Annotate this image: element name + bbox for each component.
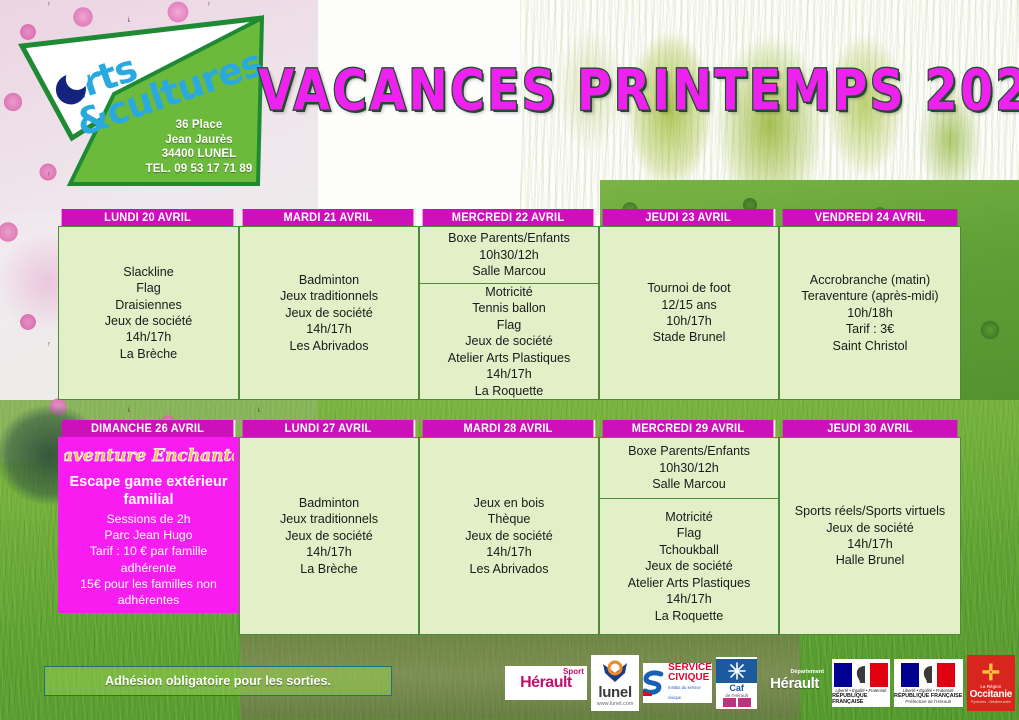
day-header: VENDREDI 24 AVRIL <box>783 209 958 226</box>
marianne-flag-icon <box>901 663 955 687</box>
escape-game-cell: L'aventure EnchantéeEscape game extérieu… <box>58 437 239 613</box>
activity-cell: BadmintonJeux traditionnelsJeux de socié… <box>239 437 419 635</box>
arts-et-cultures-logo: arts &cultures 36 Place Jean Jaurès 3440… <box>10 6 272 196</box>
activity-line: La Roquette <box>655 608 724 624</box>
activity-line: Tarif : 3€ <box>846 321 894 337</box>
service-civique-text: SERVICE CIVIQUE Institut du service civi… <box>668 663 712 703</box>
address-line: TEL. 09 53 17 71 89 <box>134 162 264 177</box>
activity-line: Motricité <box>485 284 533 300</box>
marianne-flag-icon <box>834 663 888 687</box>
partner-logo-caf: Caf de l'Hérault <box>716 657 757 709</box>
day-column: MERCREDI 29 AVRILBoxe Parents/Enfants10h… <box>599 420 779 635</box>
address-line: 36 Place <box>134 118 264 133</box>
occitanie-lab3: Pyrénées - Méditerranée <box>971 700 1011 704</box>
partner-logo-strip: Sport Hérault lunel www.lunel.com SERVIC… <box>505 652 1015 714</box>
activity-line: Jeux de société <box>465 528 553 544</box>
page-title: VACANCES PRINTEMPS 2026 <box>258 57 1013 123</box>
caf-name: Caf <box>729 683 744 693</box>
departement-herault-name: Hérault <box>770 675 819 692</box>
activity-line: Saint Christol <box>833 338 908 354</box>
day-header: LUNDI 20 AVRIL <box>62 209 236 226</box>
day-header: MERCREDI 29 AVRIL <box>603 420 776 437</box>
service-civique-sub: Institut du service civique <box>668 683 712 703</box>
activity-cell: Boxe Parents/Enfants10h30/12hSalle Marco… <box>419 226 599 284</box>
activity-line: Jeux de société <box>105 313 193 329</box>
activity-line: Atelier Arts Plastiques <box>448 350 571 366</box>
escape-headline: Escape game extérieur familial <box>63 473 234 509</box>
activity-line: La Brèche <box>300 561 357 577</box>
activity-line: Tennis ballon <box>472 300 546 316</box>
activity-line: Tarif : 10 € par famille adhérente <box>63 543 234 575</box>
activity-line: Stade Brunel <box>653 329 726 345</box>
day-column: JEUDI 23 AVRILTournoi de foot12/15 ans10… <box>599 209 779 400</box>
snowflake-icon <box>727 661 747 681</box>
flag-white-marianne <box>852 663 870 687</box>
activity-line: 14h/17h <box>126 329 172 345</box>
activity-line: Slackline <box>123 264 173 280</box>
activity-cell: Tournoi de foot12/15 ans10h/17hStade Bru… <box>599 226 779 400</box>
activity-line: Jeux de société <box>645 558 733 574</box>
caf-chip <box>738 698 751 707</box>
address-line: 34400 LUNEL <box>134 147 264 162</box>
membership-notice-text: Adhésion obligatoire pour les sorties. <box>105 674 331 688</box>
activity-line: La Brèche <box>120 346 177 362</box>
flag-blue <box>834 663 852 687</box>
activity-line: Salle Marcou <box>472 263 546 279</box>
activity-line: La Roquette <box>475 383 544 399</box>
activity-line: Jeux de société <box>285 528 373 544</box>
activity-line: Flag <box>497 317 522 333</box>
lunel-name: lunel <box>598 684 632 701</box>
activity-cell: MotricitéFlagTchoukballJeux de sociétéAt… <box>599 499 779 635</box>
activity-line: 10h30/12h <box>479 247 539 263</box>
schedule-week-1: LUNDI 20 AVRILSlacklineFlagDraisiennesJe… <box>58 209 961 400</box>
activity-line: 14h/17h <box>306 321 352 337</box>
partner-logo-departement-herault: Département Hérault <box>761 666 828 700</box>
activity-line: 10h/18h <box>847 305 893 321</box>
partner-logo-lunel: lunel www.lunel.com <box>591 655 639 711</box>
activity-cell: Jeux en boisThèqueJeux de société14h/17h… <box>419 437 599 635</box>
day-header: MARDI 28 AVRIL <box>423 420 596 437</box>
flag-white-marianne <box>919 663 937 687</box>
day-header: MERCREDI 22 AVRIL <box>423 209 596 226</box>
activity-line: 15€ pour les familles non adhérentes <box>63 576 234 608</box>
activity-line: 14h/17h <box>486 366 532 382</box>
activity-line: Sessions de 2h <box>106 511 190 527</box>
day-column: MARDI 28 AVRILJeux en boisThèqueJeux de … <box>419 420 599 635</box>
day-column: DIMANCHE 26 AVRILL'aventure EnchantéeEsc… <box>58 420 239 635</box>
day-column: JEUDI 30 AVRILSports réels/Sports virtue… <box>779 420 961 635</box>
day-header: DIMANCHE 26 AVRIL <box>62 420 236 437</box>
marianne-profile-icon <box>919 663 937 687</box>
activity-line: Thèque <box>488 511 531 527</box>
address-line: Jean Jaurès <box>134 133 264 148</box>
day-column: VENDREDI 24 AVRILAccrobranche (matin)Ter… <box>779 209 961 400</box>
activity-line: Tournoi de foot <box>647 280 730 296</box>
activity-line: Jeux en bois <box>474 495 545 511</box>
partner-logo-republique-francaise: Liberté • Égalité • Fraternité RÉPUBLIQU… <box>832 659 890 707</box>
day-column: MERCREDI 22 AVRILBoxe Parents/Enfants10h… <box>419 209 599 400</box>
activity-line: Sports réels/Sports virtuels <box>795 503 945 519</box>
activity-line: Badminton <box>299 272 359 288</box>
service-civique-icon <box>643 670 665 696</box>
caf-snowflake-icon <box>716 659 757 683</box>
activity-cell: Accrobranche (matin)Teraventure (après-m… <box>779 226 961 400</box>
membership-notice-banner: Adhésion obligatoire pour les sorties. <box>44 666 392 696</box>
activity-line: Teraventure (après-midi) <box>801 288 938 304</box>
day-column: MARDI 21 AVRILBadmintonJeux traditionnel… <box>239 209 419 400</box>
marianne-profile-icon <box>852 663 870 687</box>
day-column: LUNDI 27 AVRILBadmintonJeux traditionnel… <box>239 420 419 635</box>
activity-cell: Sports réels/Sports virtuelsJeux de soci… <box>779 437 961 635</box>
activity-line: Boxe Parents/Enfants <box>628 443 750 459</box>
activity-line: Flag <box>136 280 161 296</box>
partner-logo-occitanie: ✛ La Région Occitanie Pyrénées - Méditer… <box>967 655 1015 711</box>
activity-line: Jeux de société <box>285 305 373 321</box>
activity-line: Flag <box>677 525 702 541</box>
prefecture-sub: Préfecture de l'Hérault <box>905 699 951 704</box>
departement-herault-sup: Département <box>790 669 824 675</box>
activity-line: 14h/17h <box>486 544 532 560</box>
activity-line: Les Abrivados <box>469 561 548 577</box>
activity-cell: SlacklineFlagDraisiennesJeux de société1… <box>58 226 239 400</box>
caf-chips <box>723 698 751 707</box>
day-header: JEUDI 30 AVRIL <box>783 420 958 437</box>
activity-line: Boxe Parents/Enfants <box>448 230 570 246</box>
activity-line: 10h/17h <box>666 313 712 329</box>
activity-line: Parc Jean Hugo <box>104 527 192 543</box>
activity-line: Salle Marcou <box>652 476 726 492</box>
day-header: MARDI 21 AVRIL <box>243 209 416 226</box>
activity-line: Tchoukball <box>659 542 719 558</box>
sport-herault-sup: Sport <box>563 667 584 676</box>
day-header: LUNDI 27 AVRIL <box>243 420 416 437</box>
activity-line: Accrobranche (matin) <box>810 272 930 288</box>
logo-address: 36 Place Jean Jaurès 34400 LUNEL TEL. 09… <box>134 118 264 176</box>
lunel-url: www.lunel.com <box>597 701 634 707</box>
caf-chip <box>723 698 736 707</box>
activity-line: Draisiennes <box>115 297 182 313</box>
partner-logo-service-civique: SERVICE CIVIQUE Institut du service civi… <box>643 663 712 703</box>
activity-cell: Boxe Parents/Enfants10h30/12hSalle Marco… <box>599 437 779 499</box>
flag-red <box>937 663 955 687</box>
activity-cell: BadmintonJeux traditionnelsJeux de socié… <box>239 226 419 400</box>
rf-name: RÉPUBLIQUE FRANÇAISE <box>832 693 890 705</box>
activity-line: Jeux traditionnels <box>280 511 378 527</box>
activity-line: Badminton <box>299 495 359 511</box>
activity-line: 14h/17h <box>306 544 352 560</box>
schedule-week-2: DIMANCHE 26 AVRILL'aventure EnchantéeEsc… <box>58 420 961 635</box>
activity-line: 10h30/12h <box>659 460 719 476</box>
partner-logo-sport-herault: Sport Hérault <box>505 666 587 700</box>
service-civique-line2: CIVIQUE <box>668 673 712 683</box>
day-column: LUNDI 20 AVRILSlacklineFlagDraisiennesJe… <box>58 209 239 400</box>
aventure-enchantee-logo: L'aventure Enchantée <box>64 442 234 468</box>
svg-text:L'aventure Enchantée: L'aventure Enchantée <box>64 446 234 466</box>
activity-line: Atelier Arts Plastiques <box>628 575 751 591</box>
activity-line: Motricité <box>665 509 713 525</box>
occitanie-lab2: Occitanie <box>970 689 1012 700</box>
partner-logo-prefecture-herault: Liberté • Égalité • Fraternité RÉPUBLIQU… <box>894 659 963 707</box>
activity-line: Jeux de société <box>465 333 553 349</box>
flag-blue <box>901 663 919 687</box>
activity-cell: MotricitéTennis ballonFlagJeux de sociét… <box>419 284 599 400</box>
activity-line: Les Abrivados <box>289 338 368 354</box>
activity-line: 14h/17h <box>666 591 712 607</box>
activity-line: Halle Brunel <box>836 552 905 568</box>
activity-line: 14h/17h <box>847 536 893 552</box>
activity-line: Jeux traditionnels <box>280 288 378 304</box>
sport-herault-name: Hérault <box>520 674 572 692</box>
flag-red <box>870 663 888 687</box>
activity-line: 12/15 ans <box>661 297 716 313</box>
day-header: JEUDI 23 AVRIL <box>603 209 776 226</box>
activity-line: Jeux de société <box>826 520 914 536</box>
lunel-bird-icon <box>599 660 631 684</box>
occitan-cross-icon: ✛ <box>982 662 1000 684</box>
